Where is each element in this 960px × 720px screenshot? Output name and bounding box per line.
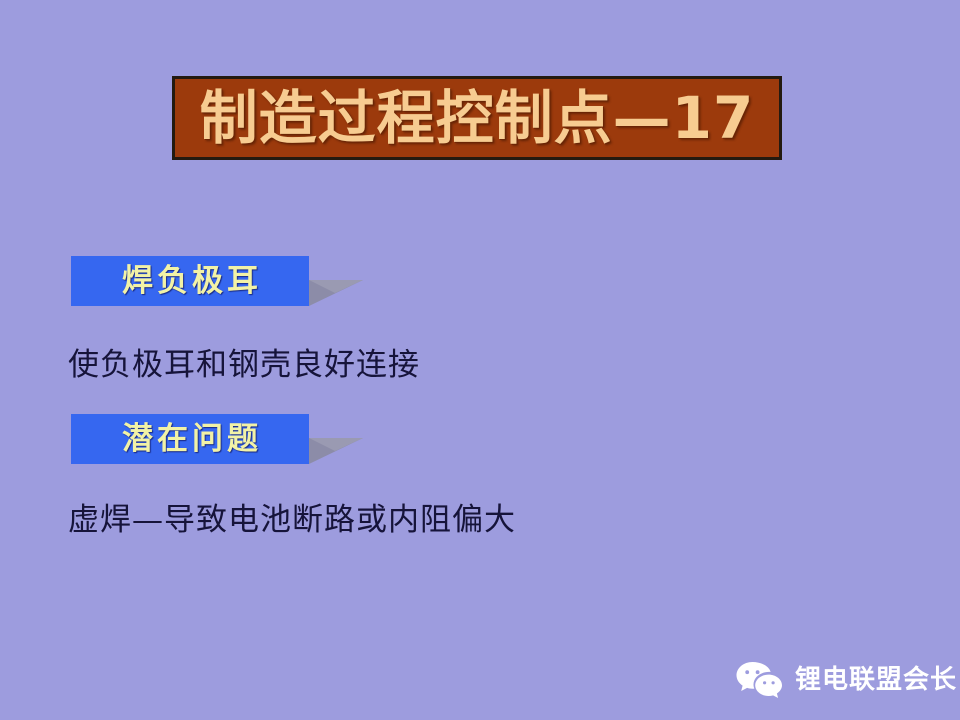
page-title: 制造过程控制点—17 <box>200 89 755 147</box>
slide-canvas: 制造过程控制点—17 焊负极耳 使负极耳和钢壳良好连接 潜在问题 虚焊—导致电池… <box>0 0 960 720</box>
wechat-icon <box>735 660 783 700</box>
body-text-issue: 虚焊—导致电池断路或内阻偏大 <box>68 505 516 536</box>
callout-weld-negative-tab: 焊负极耳 <box>71 256 363 306</box>
callout-box: 焊负极耳 <box>71 256 309 306</box>
watermark: 锂电联盟会长 <box>735 660 957 700</box>
slide-title-banner: 制造过程控制点—17 <box>172 76 782 160</box>
callout-tail-triangle-icon <box>309 414 363 464</box>
watermark-label: 锂电联盟会长 <box>795 667 957 693</box>
callout-potential-issue: 潜在问题 <box>71 414 363 464</box>
callout-tail-triangle-icon <box>309 256 363 306</box>
callout-box: 潜在问题 <box>71 414 309 464</box>
body-text-description: 使负极耳和钢壳良好连接 <box>68 350 420 381</box>
callout-label: 潜在问题 <box>118 424 262 455</box>
callout-label: 焊负极耳 <box>118 266 262 297</box>
